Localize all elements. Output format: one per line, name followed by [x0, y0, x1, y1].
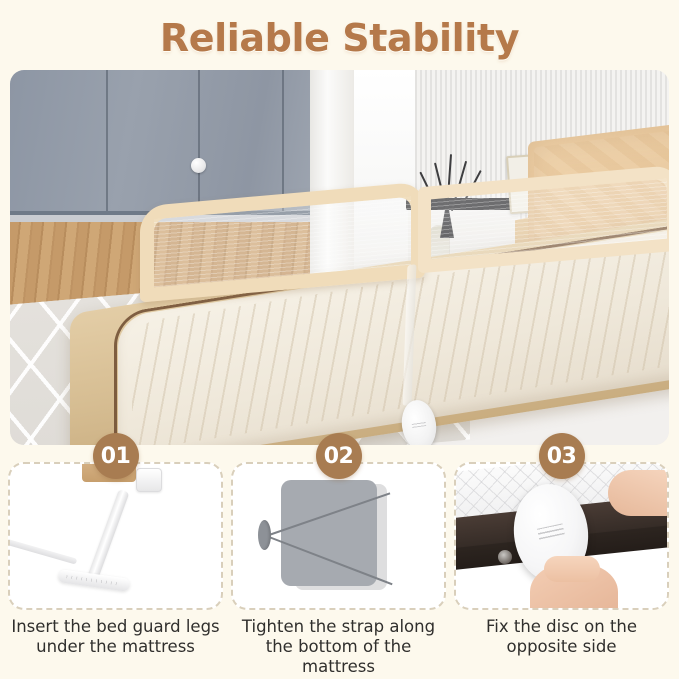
- step-badge-02: 02: [316, 433, 362, 479]
- infographic-page: Reliable Stability: [0, 0, 679, 679]
- page-title: Reliable Stability: [0, 16, 679, 60]
- hero-image: [10, 70, 669, 445]
- step-thumbnail-02: [231, 462, 446, 610]
- step-thumbnail-01: [8, 462, 223, 610]
- rail-mesh: [431, 179, 667, 260]
- step-card-03: 03 Fix the disc on the opposite side: [454, 455, 669, 675]
- wardrobe-seam: [106, 70, 108, 211]
- wardrobe-seam: [282, 70, 284, 211]
- step-card-01: 01 Insert the bed guard legs under the m…: [8, 455, 223, 675]
- frame-screw: [498, 550, 512, 564]
- step-badge-03: 03: [539, 433, 585, 479]
- guard-leg-tube: [86, 489, 130, 585]
- guard-arm: [8, 537, 77, 564]
- step-caption-02: Tighten the strap along the bottom of th…: [227, 617, 450, 677]
- leg-bracket: [136, 468, 162, 492]
- title-container: Reliable Stability: [0, 16, 679, 60]
- steps-row: 01 Insert the bed guard legs under the m…: [8, 455, 671, 675]
- hand-upper: [608, 470, 669, 516]
- cabinet-knob-icon: [191, 158, 206, 173]
- rail-mesh: [154, 197, 411, 287]
- step-badge-01: 01: [93, 433, 139, 479]
- mattress-diagram: [281, 480, 377, 586]
- wardrobe-seam: [198, 70, 200, 211]
- step-card-02: 02 Tighten the strap along the bottom of…: [231, 455, 446, 675]
- hand-holding-disc: [530, 564, 618, 610]
- step-thumbnail-03: [454, 462, 669, 610]
- step-caption-01: Insert the bed guard legs under the matt…: [4, 617, 227, 657]
- disc-diagram: [258, 520, 271, 550]
- step-caption-03: Fix the disc on the opposite side: [450, 617, 673, 657]
